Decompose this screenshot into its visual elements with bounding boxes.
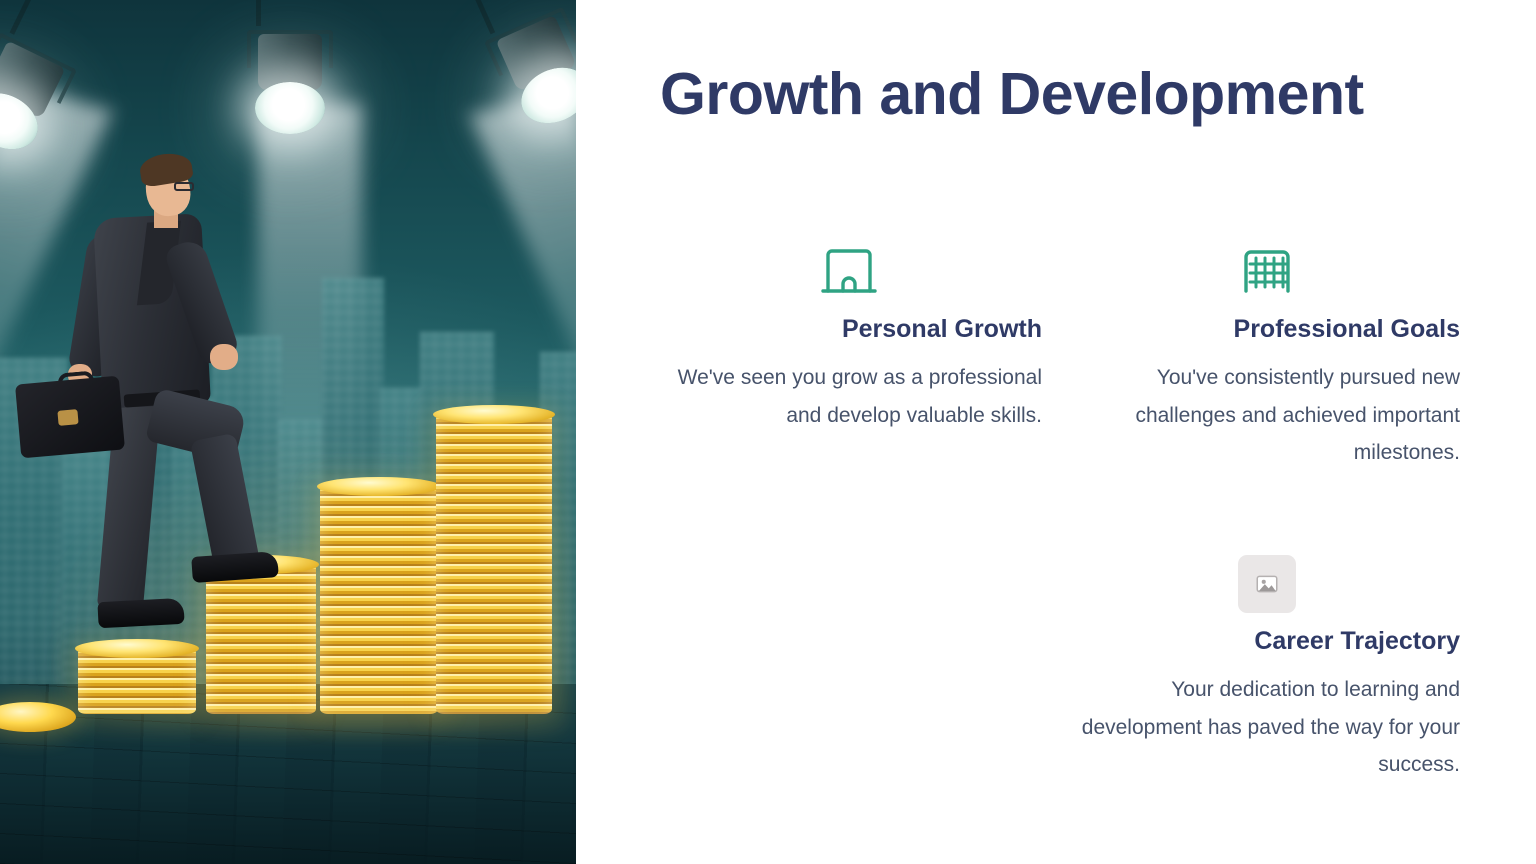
coin-stack xyxy=(320,486,438,714)
slide-root: Growth and Development Personal Growth W… xyxy=(0,0,1536,864)
glasses-icon xyxy=(174,182,194,191)
feature-card-professional-goals: Professional Goals You've consistently p… xyxy=(1074,240,1460,471)
feature-card-personal-growth: Personal Growth We've seen you grow as a… xyxy=(656,240,1042,434)
feature-body: Your dedication to learning and developm… xyxy=(1074,671,1460,783)
businessman-figure xyxy=(24,148,274,668)
goal-net-icon xyxy=(1238,245,1296,300)
feature-title: Professional Goals xyxy=(1074,314,1460,345)
feature-icon-wrap xyxy=(1074,552,1460,616)
hero-image-panel xyxy=(0,0,576,864)
feature-card-career-trajectory: Career Trajectory Your dedication to lea… xyxy=(1074,552,1460,783)
feature-icon-wrap xyxy=(656,240,1042,304)
feature-body: We've seen you grow as a professional an… xyxy=(656,359,1042,434)
image-placeholder-icon xyxy=(1238,555,1296,613)
goal-post-icon xyxy=(820,245,878,300)
feature-icon-wrap xyxy=(1074,240,1460,304)
feature-body: You've consistently pursued new challeng… xyxy=(1074,359,1460,471)
coin-stack xyxy=(436,414,552,714)
feature-title: Personal Growth xyxy=(656,314,1042,345)
content-panel: Growth and Development Personal Growth W… xyxy=(576,0,1536,864)
feature-title: Career Trajectory xyxy=(1074,626,1460,657)
page-title: Growth and Development xyxy=(660,60,1364,128)
